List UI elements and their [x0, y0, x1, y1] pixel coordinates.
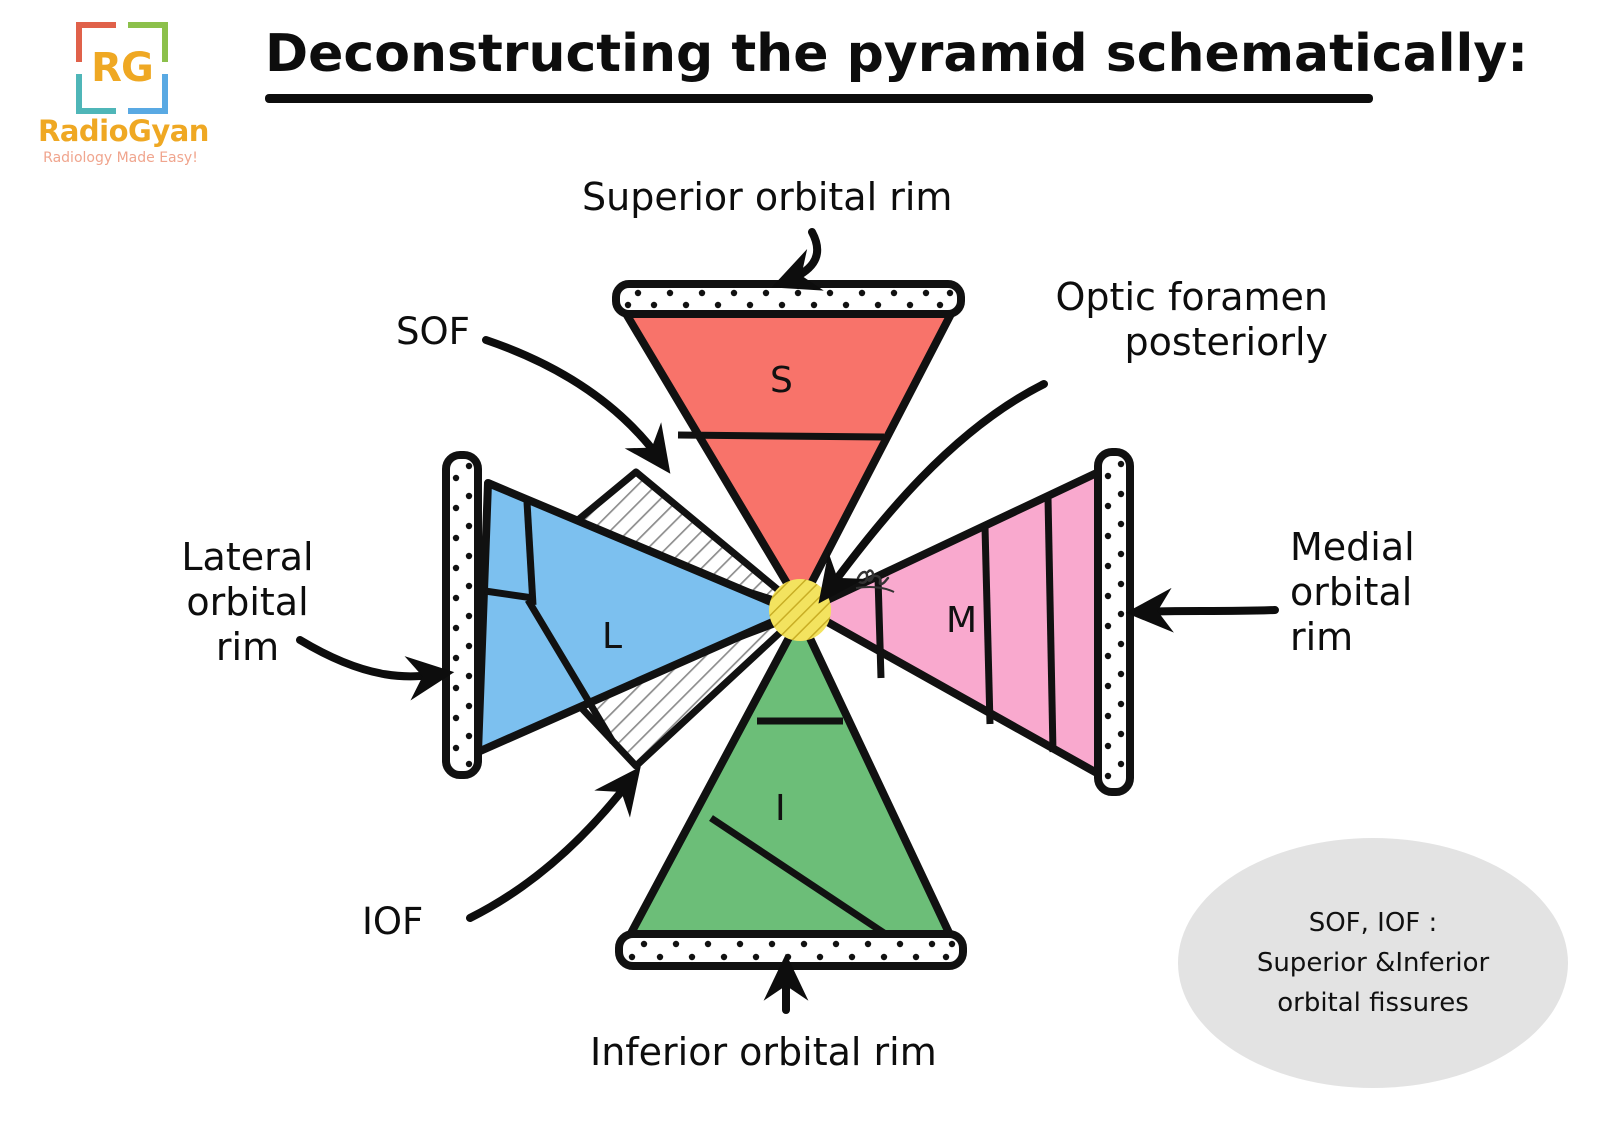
optic-foramen-marker[interactable] — [769, 579, 831, 641]
arrow-medial-rim — [1140, 610, 1275, 612]
legend-line-1: SOF, IOF : — [1309, 903, 1438, 943]
label-sof: SOF — [396, 310, 470, 354]
legend-line-3: orbital fissures — [1277, 983, 1469, 1023]
label-optic-foramen: Optic foramen posteriorly — [1028, 275, 1328, 365]
superior-orbital-rim[interactable] — [616, 284, 961, 314]
label-inferior-orbital-rim: Inferior orbital rim — [590, 1030, 937, 1075]
legend-line-2: Superior &Inferior — [1257, 943, 1489, 983]
inferior-orbital-rim[interactable] — [619, 934, 963, 966]
lateral-wall-letter: L — [602, 616, 622, 657]
medial-wall-letter: M — [946, 600, 977, 641]
medial-orbital-rim[interactable] — [1098, 452, 1130, 792]
label-lateral-orbital-rim: Lateral orbital rim — [150, 535, 345, 669]
superior-wall-letter: S — [770, 360, 793, 401]
label-superior-orbital-rim: Superior orbital rim — [582, 175, 952, 220]
lateral-orbital-rim[interactable] — [446, 455, 478, 775]
label-iof: IOF — [362, 900, 423, 944]
label-medial-orbital-rim: Medial orbital rim — [1290, 525, 1500, 659]
arrow-iof — [470, 778, 632, 918]
abbreviation-legend: SOF, IOF : Superior &Inferior orbital fi… — [1178, 838, 1568, 1088]
inferior-wall-letter: I — [775, 788, 786, 829]
diagram-canvas: RG RadioGyan Radiology Made Easy! Decons… — [0, 0, 1600, 1133]
arrow-superior-rim — [785, 232, 817, 282]
arrow-sof — [486, 340, 662, 462]
